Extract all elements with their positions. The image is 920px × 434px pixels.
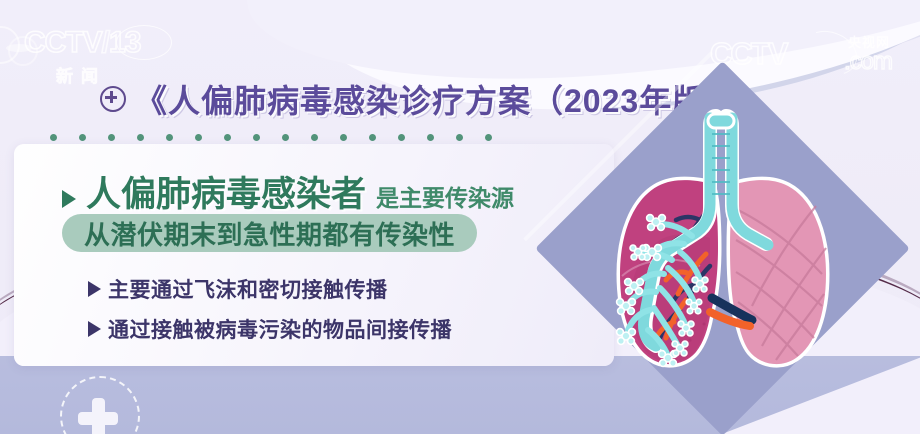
dot-decor [253,134,260,141]
dot-decor [427,134,434,141]
triangle-marker-icon [88,281,101,297]
list-item-label: 主要通过飞沫和密切接触传播 [108,274,388,304]
site-watermark: CCTV 央视网 .com [710,30,892,76]
medical-cross-icon [100,86,126,112]
dot-decor [195,134,202,141]
watermark-domain-suffix: .com [844,48,892,76]
dot-decor [340,134,347,141]
primary-statement: 人偏肺病毒感染者 是主要传染源 [62,166,514,217]
triangle-marker-icon [62,190,76,208]
list-item: 主要通过飞沫和密切接触传播 [88,274,388,304]
channel-logo-oval-icon [116,25,172,60]
right-lung [730,180,826,364]
primary-strong-text: 人偏肺病毒感染者 [86,166,366,217]
dot-decor [79,134,86,141]
channel-logo-text: CCTV [24,26,102,59]
dot-decor [108,134,115,141]
dot-decor [311,134,318,141]
lungs-illustration [560,88,890,418]
dot-decor [137,134,144,141]
primary-normal-text: 是主要传染源 [376,179,514,217]
dot-decor [166,134,173,141]
highlight-banner: 从潜伏期末到急性期都有传染性 [62,214,477,252]
list-item-label: 通过接触被病毒污染的物品间接传播 [108,314,452,344]
dot-decor [369,134,376,141]
dot-decor [485,134,492,141]
dot-decor [456,134,463,141]
plus-icon [78,398,118,434]
dot-decor [50,134,57,141]
list-item: 通过接触被病毒污染的物品间接传播 [88,314,452,344]
lungs-svg [560,88,890,418]
triangle-marker-icon [88,321,101,337]
dot-decor [224,134,231,141]
dot-decor [398,134,405,141]
broadcast-graphic: CCTV/13 新闻 CCTV 央视网 .com 《人偏肺病毒感染诊疗方案（20… [0,0,920,434]
highlight-banner-text: 从潜伏期末到急性期都有传染性 [84,215,455,252]
dot-decor [282,134,289,141]
